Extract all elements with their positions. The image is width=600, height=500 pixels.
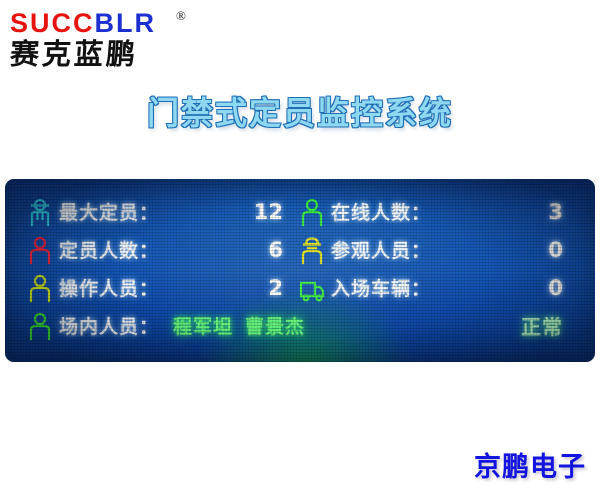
registered-trademark-icon: ®: [176, 8, 186, 24]
status-badge: 正常: [521, 311, 563, 340]
led-row-onsite-personnel: 场内人员： 程军坦曹景杰: [27, 307, 299, 344]
led-value: 6: [268, 238, 283, 262]
led-row-online-count: 在线人数： 3: [299, 193, 579, 230]
led-row-max-capacity: 最大定员： 12: [27, 193, 299, 230]
brand-latin-red: SUCC: [10, 8, 95, 38]
person-icon: [299, 197, 325, 227]
led-row-registered-count: 定员人数： 6: [27, 231, 299, 268]
led-display-panel: 最大定员： 12 定员人数： 6 操作人员： 2: [5, 179, 595, 362]
onsite-name-2: 曹景杰: [245, 316, 305, 338]
led-label: 操作人员：: [59, 274, 159, 301]
person-cap-icon: [27, 197, 53, 227]
led-label: 参观人员：: [331, 236, 431, 263]
person-icon: [27, 273, 53, 303]
person-icon: [27, 311, 53, 341]
led-label: 定员人数：: [59, 236, 159, 263]
led-label: 场内人员：: [59, 312, 159, 339]
led-value: 0: [548, 238, 563, 262]
led-row-operators: 操作人员： 2: [27, 269, 299, 306]
led-content-grid: 最大定员： 12 定员人数： 6 操作人员： 2: [5, 179, 595, 362]
led-value: 2: [268, 276, 283, 300]
brand-chinese-name: 赛克蓝鹏: [9, 38, 139, 71]
truck-icon: [299, 273, 325, 303]
led-label: 在线人数：: [331, 198, 431, 225]
led-onsite-names: 程军坦曹景杰: [173, 312, 305, 339]
person-icon: [27, 235, 53, 265]
footer-company-name: 京鹏电子: [474, 452, 586, 484]
brand-latin-wordmark: SUCCBLR: [10, 8, 156, 38]
led-value: 0: [548, 276, 563, 300]
led-label: 入场车辆：: [331, 274, 431, 301]
led-row-status: 正常: [299, 307, 579, 344]
led-row-vehicles: 入场车辆： 0: [299, 269, 579, 306]
led-label: 最大定员：: [59, 198, 159, 225]
page-title: 门禁式定员监控系统: [0, 93, 600, 133]
person-hardhat-icon: [299, 235, 325, 265]
led-value: 3: [548, 200, 563, 224]
onsite-name-1: 程军坦: [173, 316, 233, 338]
led-row-visitors: 参观人员： 0: [299, 231, 579, 268]
brand-logo: SUCCBLR ® 赛克蓝鹏: [8, 6, 218, 74]
led-value: 12: [254, 200, 283, 224]
brand-latin-blue: BLR: [95, 8, 157, 38]
